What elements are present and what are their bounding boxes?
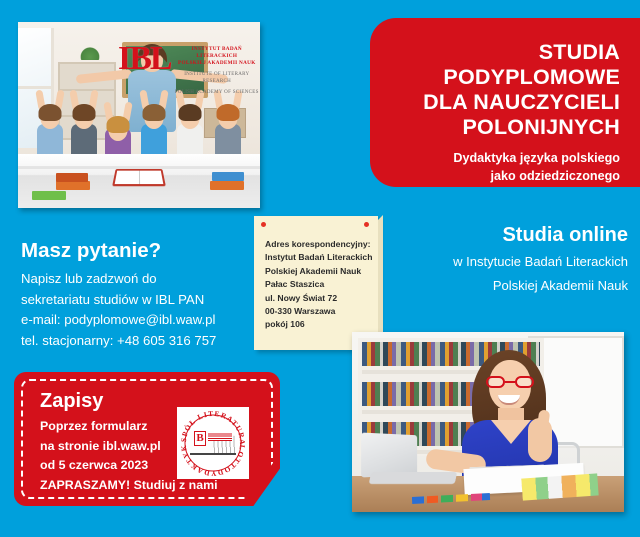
classroom-open-book	[112, 169, 166, 186]
child-figure	[70, 98, 98, 156]
laptop-keyboard	[369, 472, 458, 484]
contact-email[interactable]: e-mail: podyplomowe@ibl.waw.pl	[21, 310, 261, 331]
ibl-logo: IBL INSTYTUT BADAŃ LITERACKICH POLSKIEJ …	[118, 44, 260, 96]
classroom-plant	[80, 44, 100, 60]
seal-center-letter: B	[194, 431, 206, 446]
banner-line-2: PODYPLOMOWE	[370, 65, 620, 90]
student-photo	[352, 332, 624, 512]
online-line-1: w Instytucie Badań Literackich	[328, 252, 628, 272]
ibl-logo-polish-line2: POLSKIEJ AKADEMII NAUK	[174, 60, 260, 67]
red-glasses-icon	[486, 376, 534, 388]
contact-phone[interactable]: tel. stacjonarny: +48 605 316 757	[21, 331, 261, 352]
banner-subtitle-line-2: jako odziedziczonego	[370, 167, 620, 185]
child-figure	[104, 110, 132, 160]
child-figure	[214, 98, 242, 156]
zespol-seal-logo: ZESPÓŁ LITERATURA A GLOTTODYDAKTYKA B	[177, 407, 249, 479]
seal-text-lines	[208, 432, 232, 441]
banner-line-1: STUDIA	[370, 40, 620, 65]
note-line-6: 00-330 Warszawa	[265, 305, 378, 318]
online-heading: Studia online	[328, 222, 628, 248]
zapisy-invitation: ZAPRASZAMY! Studiuj z nami	[40, 478, 218, 492]
studia-online-block: Studia online w Instytucie Badań Literac…	[328, 222, 628, 296]
headline-banner: STUDIA PODYPLOMOWE DLA NAUCZYCIELI POLON…	[370, 18, 640, 187]
contact-line-2: sekretariatu studiów w IBL PAN	[21, 290, 261, 311]
banner-subtitle-line-1: Dydaktyka języka polskiego	[370, 149, 620, 167]
child-figure	[140, 98, 168, 156]
banner-line-3: DLA NAUCZYCIELI	[370, 90, 620, 115]
child-figure	[36, 98, 64, 156]
child-figure	[176, 98, 204, 156]
ibl-logo-english-line1: INSTITUTE OF LITERARY RESEARCH	[174, 71, 260, 85]
contact-heading: Masz pytanie?	[21, 238, 261, 264]
classroom-photo: IBL INSTYTUT BADAŃ LITERACKICH POLSKIEJ …	[18, 22, 260, 208]
online-line-2: Polskiej Akademii Nauk	[328, 276, 628, 296]
banner-line-4: POLONIJNYCH	[370, 115, 620, 140]
ibl-logo-english-line2: POLISH ACADEMY OF SCIENCES	[174, 89, 260, 96]
pin-icon	[261, 222, 266, 227]
contact-block: Masz pytanie? Napisz lub zadzwoń do sekr…	[21, 238, 261, 351]
poster-canvas: IBL INSTYTUT BADAŃ LITERACKICH POLSKIEJ …	[0, 0, 640, 537]
laptop-screen	[361, 433, 417, 478]
contact-line-1: Napisz lub zadzwoń do	[21, 269, 261, 290]
note-line-7: pokój 106	[265, 318, 378, 331]
ibl-logo-mark: IBL	[118, 44, 171, 74]
ibl-logo-polish-line1: INSTYTUT BADAŃ LITERACKICH	[174, 46, 260, 60]
